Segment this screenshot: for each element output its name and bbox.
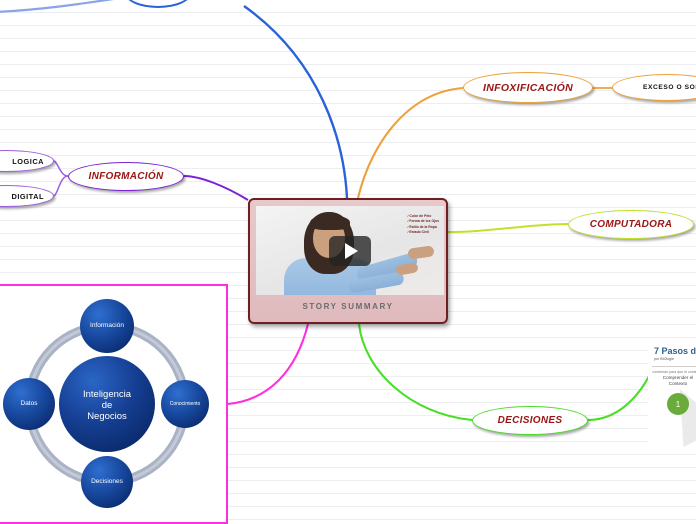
node-informacion[interactable]: INFORMACIÓN bbox=[68, 162, 184, 191]
story-summary-card[interactable]: Color de Pelo Forma de los Ojos Estilo d… bbox=[248, 198, 448, 324]
edge-center-to-infoxificacion bbox=[358, 88, 463, 198]
edge-center-to-decisiones bbox=[359, 324, 472, 420]
thumbnail-bullet-list: Color de Pelo Forma de los Ojos Estilo d… bbox=[407, 214, 439, 236]
play-icon[interactable] bbox=[329, 236, 371, 266]
thumbnail-bullet: Estado Civil bbox=[407, 230, 439, 235]
edge-center-to-bi-panel bbox=[228, 324, 308, 404]
edge-center-to-top-blue bbox=[244, 6, 347, 198]
story-summary-caption: STORY SUMMARY bbox=[256, 295, 440, 318]
edge-informacion-to-tecnologica bbox=[54, 161, 68, 176]
edge-center-to-informacion bbox=[184, 176, 248, 200]
seven-steps-title: 7 Pasos de bbox=[654, 346, 696, 356]
seven-steps-body: contenido para que el contenido Comprend… bbox=[648, 370, 696, 387]
edge-informacion-to-digital bbox=[54, 176, 68, 196]
node-computadora[interactable]: COMPUTADORA bbox=[568, 210, 694, 239]
seven-steps-subtitle: por BIOlogie bbox=[654, 357, 696, 361]
step-number-badge: 1 bbox=[667, 393, 689, 415]
node-infoxificacion[interactable]: INFOXIFICACIÓN bbox=[463, 72, 593, 103]
play-triangle bbox=[345, 243, 358, 259]
divider bbox=[652, 366, 696, 367]
bi-circle-diagram bbox=[0, 286, 224, 522]
seven-steps-card[interactable]: 7 Pasos de por BIOlogie contenido para q… bbox=[648, 340, 696, 450]
person-hand-upper bbox=[407, 245, 434, 260]
video-thumbnail[interactable]: Color de Pelo Forma de los Ojos Estilo d… bbox=[256, 206, 444, 295]
seven-steps-body-line: Comprender el bbox=[663, 375, 693, 380]
edge-top-left-stray bbox=[0, 0, 120, 12]
seven-steps-body-line: Contexto bbox=[669, 381, 687, 386]
business-intelligence-panel[interactable]: Inteligencia de Negocios Información Con… bbox=[0, 284, 228, 524]
node-decisiones[interactable]: DECISIONES bbox=[472, 406, 588, 435]
person-hand-lower bbox=[395, 262, 418, 276]
person-hair-front bbox=[310, 215, 350, 230]
edge-center-to-computadora bbox=[448, 224, 568, 232]
